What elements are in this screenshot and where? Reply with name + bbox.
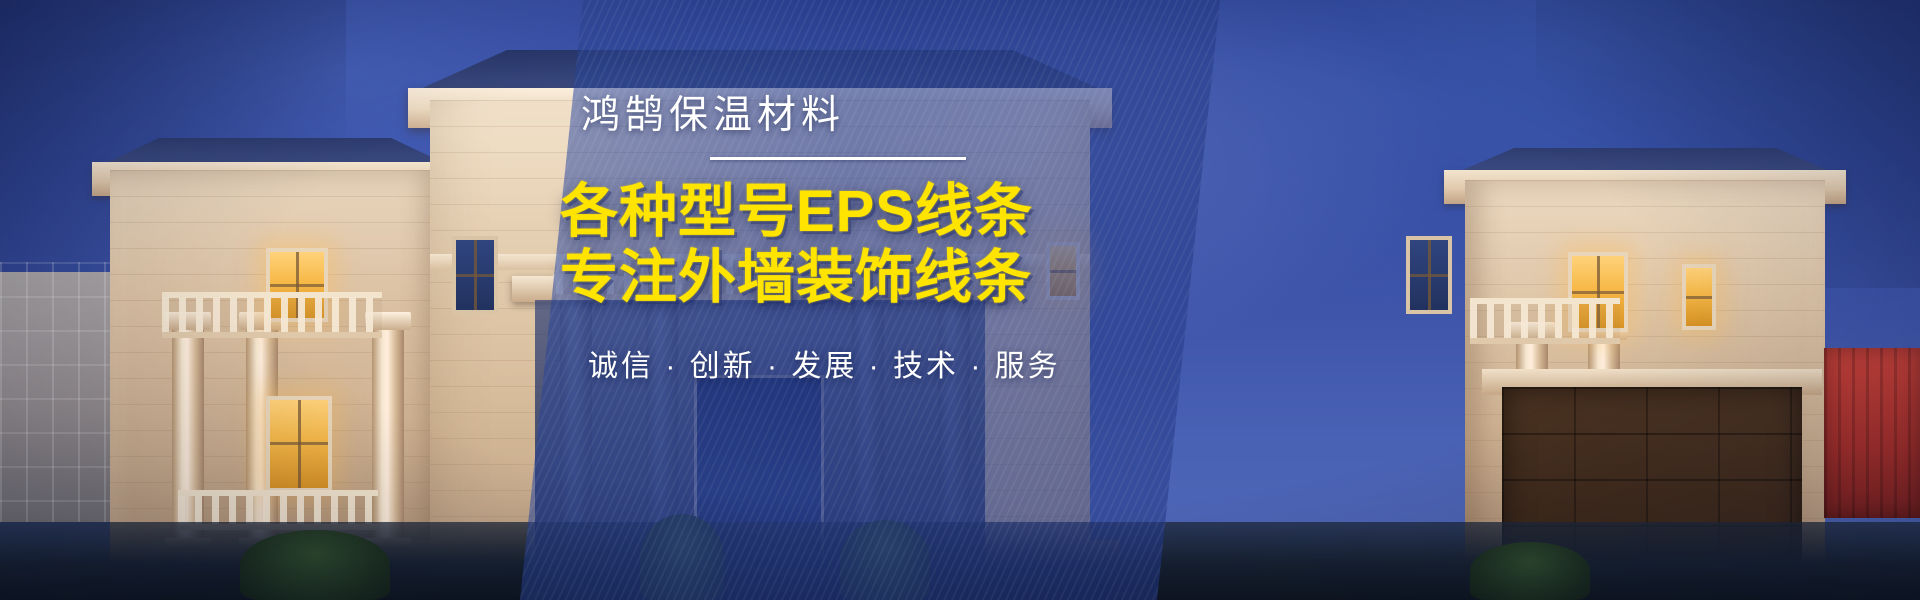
hero-banner: 鸿鹄保温材料 各种型号EPS线条 专注外墙装饰线条 诚信 · 创新 · 发展 ·… xyxy=(0,0,1920,600)
window-center-right xyxy=(1406,236,1452,314)
roof-left xyxy=(104,138,446,164)
roof-right xyxy=(1458,148,1832,172)
balustrade-left xyxy=(162,292,382,338)
brand-name: 鸿鹄保温材料 xyxy=(581,96,1120,135)
balustrade-right xyxy=(1470,298,1620,344)
window-center-left xyxy=(452,236,498,314)
red-container xyxy=(1824,348,1920,518)
tagline: 诚信 · 创新 · 发展 · 技术 · 服务 xyxy=(588,341,1120,385)
window-upper-right-2 xyxy=(1682,264,1716,330)
headline-line-1: 各种型号EPS线条 xyxy=(560,182,1120,242)
hedge-left xyxy=(240,530,390,600)
title-divider xyxy=(710,157,966,160)
banner-text-block: 鸿鹄保温材料 各种型号EPS线条 专注外墙装饰线条 诚信 · 创新 · 发展 ·… xyxy=(560,96,1120,385)
hedge-right xyxy=(1470,542,1590,600)
window-lower-left-1 xyxy=(266,396,332,492)
headline-line-2: 专注外墙装饰线条 xyxy=(560,248,1120,308)
